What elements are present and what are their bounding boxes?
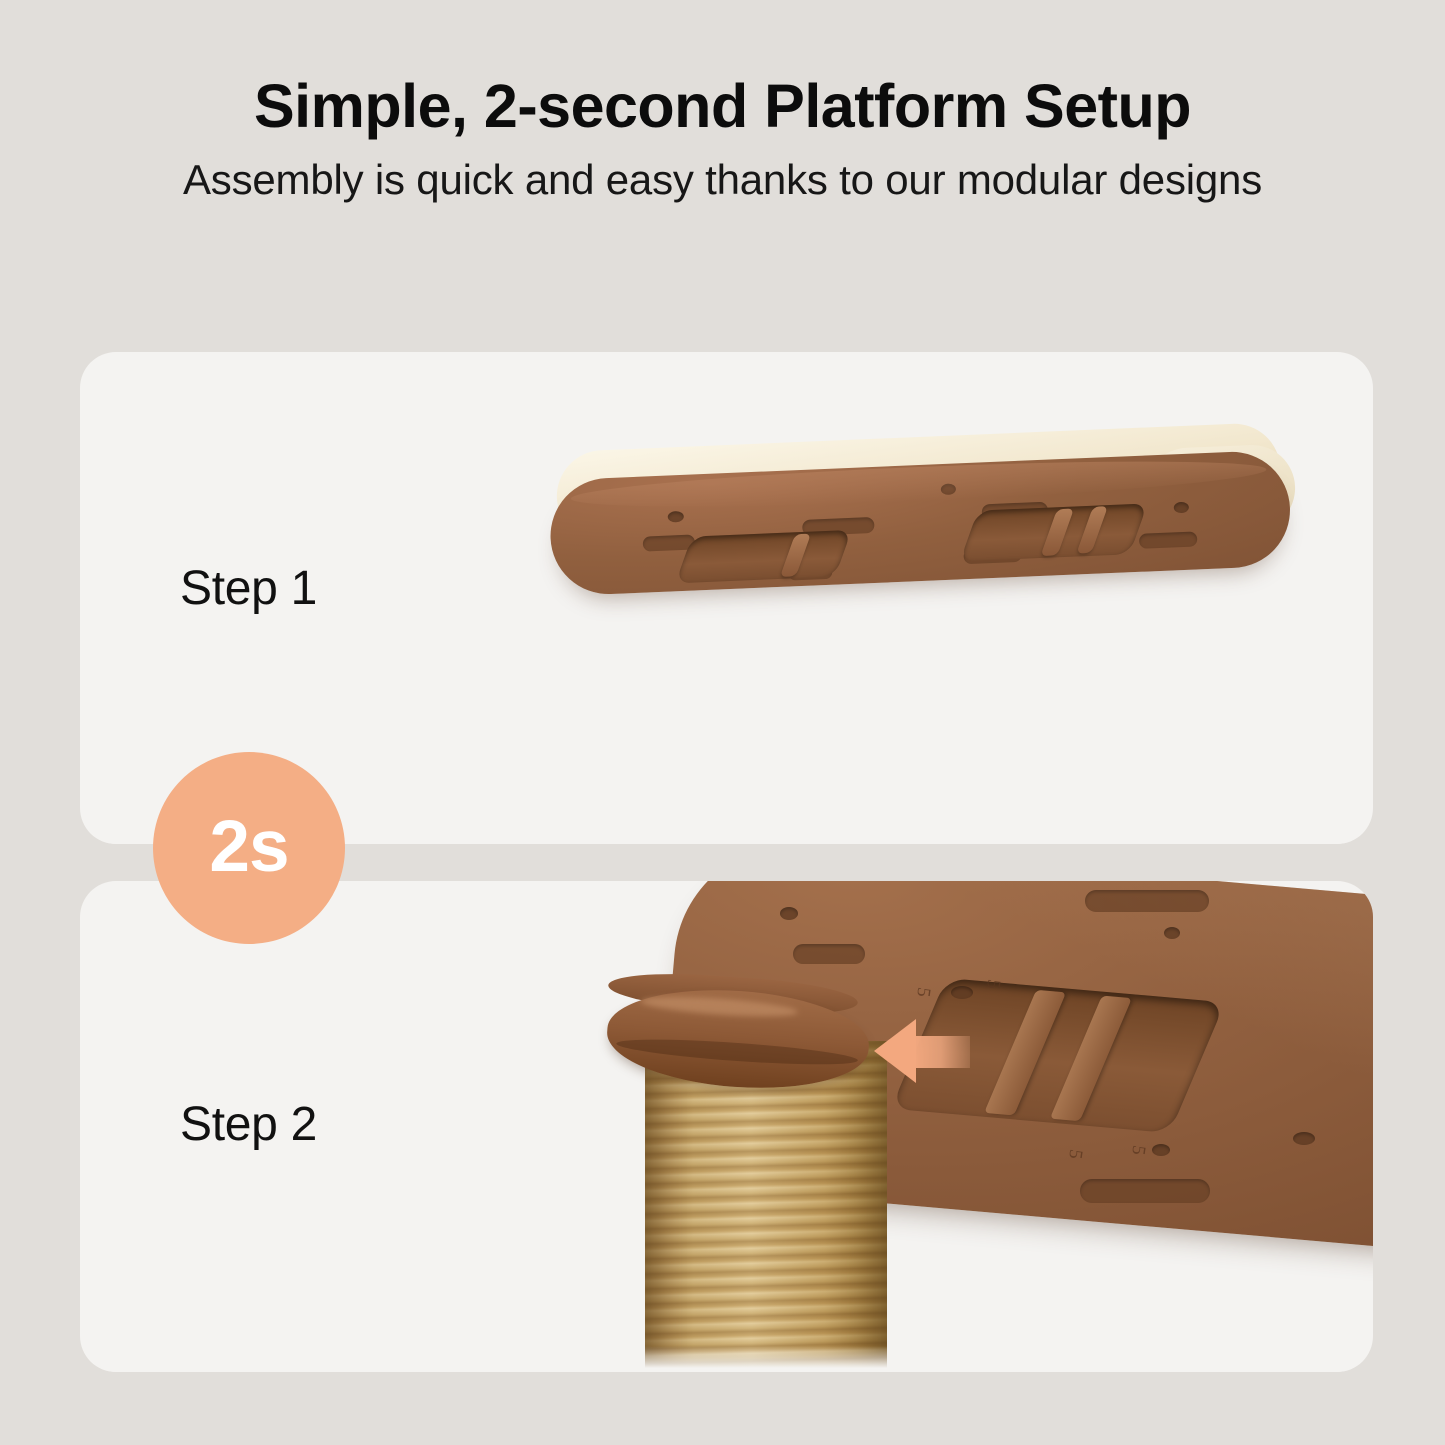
board-hole	[1293, 1132, 1315, 1145]
step-1-label: Step 1	[180, 561, 317, 616]
post-collar-highlight	[640, 993, 798, 1020]
step-2-card: Step 2 5 5 5 5 5	[80, 881, 1373, 1372]
board-slot	[1085, 890, 1209, 912]
board-rib	[1050, 996, 1132, 1122]
arrow-left-icon	[874, 1019, 970, 1083]
board-slot	[1080, 1179, 1210, 1203]
board-hole	[941, 483, 956, 495]
header: Simple, 2-second Platform Setup Assembly…	[0, 0, 1445, 204]
step-2-label: Step 2	[180, 1097, 317, 1152]
page-subtitle: Assembly is quick and easy thanks to our…	[0, 156, 1445, 204]
sisal-post	[645, 1041, 887, 1372]
page-title: Simple, 2-second Platform Setup	[0, 72, 1445, 140]
board-hole	[780, 907, 798, 920]
board-hole	[1174, 502, 1189, 514]
board-slide-channel-left	[675, 530, 852, 583]
arrow-shaft	[912, 1036, 970, 1068]
board-slot	[793, 944, 865, 964]
platform-board-icon	[547, 422, 1293, 613]
board-slot	[1139, 531, 1198, 548]
board-hole	[951, 986, 973, 999]
duration-badge-label: 2s	[209, 810, 288, 883]
board-hole	[1164, 927, 1180, 939]
arrow-head	[874, 1019, 916, 1083]
board-rib	[984, 990, 1066, 1116]
board-hole	[1152, 1144, 1170, 1156]
duration-badge: 2s	[153, 752, 345, 944]
board-hole	[668, 511, 684, 523]
